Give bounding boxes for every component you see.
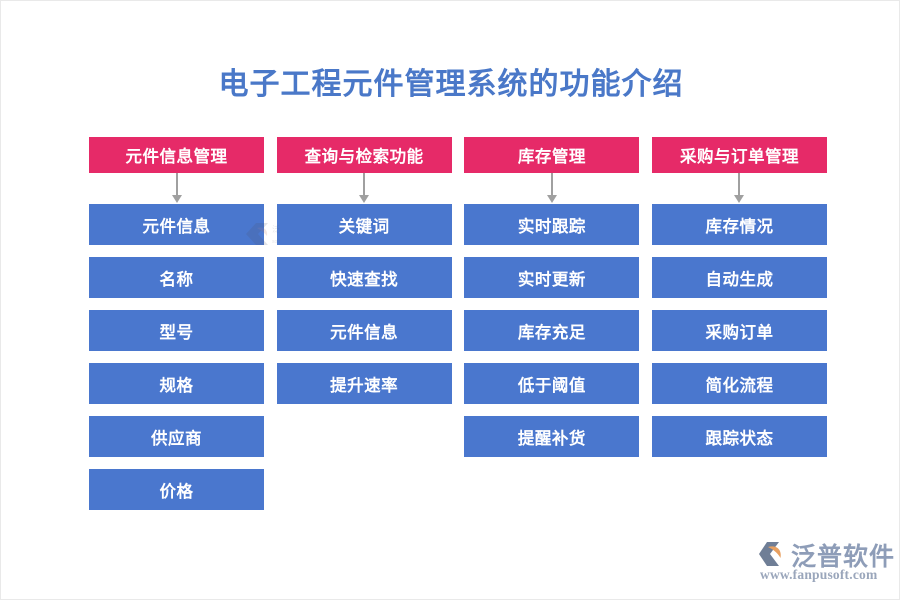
columns-container: 元件信息管理元件信息名称型号规格供应商价格查询与检索功能关键词快速查找元件信息提… (89, 137, 827, 510)
item-box[interactable]: 实时更新 (464, 257, 639, 298)
connector-line (551, 173, 553, 197)
column-header-4[interactable]: 采购与订单管理 (652, 137, 827, 173)
brand-logo: 泛普软件 www.fanpusoft.com (758, 537, 893, 585)
column-header-2[interactable]: 查询与检索功能 (277, 137, 452, 173)
connector-line (363, 173, 365, 197)
item-box[interactable]: 快速查找 (277, 257, 452, 298)
column-header-1[interactable]: 元件信息管理 (89, 137, 264, 173)
arrow-down-icon (652, 173, 827, 204)
connector-arrowhead (172, 195, 182, 203)
item-box[interactable]: 采购订单 (652, 310, 827, 351)
item-box[interactable]: 元件信息 (89, 204, 264, 245)
connector-arrowhead (734, 195, 744, 203)
column-2: 查询与检索功能关键词快速查找元件信息提升速率 (277, 137, 452, 510)
page-title: 电子工程元件管理系统的功能介绍 (1, 59, 900, 103)
item-box[interactable]: 跟踪状态 (652, 416, 827, 457)
item-box[interactable]: 自动生成 (652, 257, 827, 298)
item-box[interactable]: 实时跟踪 (464, 204, 639, 245)
brand-url: www.fanpusoft.com (760, 567, 877, 583)
column-header-3[interactable]: 库存管理 (464, 137, 639, 173)
column-4: 采购与订单管理库存情况自动生成采购订单简化流程跟踪状态 (652, 137, 827, 510)
item-box[interactable]: 规格 (89, 363, 264, 404)
arrow-down-icon (464, 173, 639, 204)
item-box[interactable]: 名称 (89, 257, 264, 298)
item-box[interactable]: 简化流程 (652, 363, 827, 404)
item-box[interactable]: 价格 (89, 469, 264, 510)
item-box[interactable]: 库存情况 (652, 204, 827, 245)
item-box[interactable]: 型号 (89, 310, 264, 351)
item-box[interactable]: 低于阈值 (464, 363, 639, 404)
fanpu-logo-icon (758, 539, 788, 569)
connector-arrowhead (359, 195, 369, 203)
item-box[interactable]: 供应商 (89, 416, 264, 457)
infographic-page: 电子工程元件管理系统的功能介绍 元件信息管理元件信息名称型号规格供应商价格查询与… (0, 0, 900, 600)
connector-line (738, 173, 740, 197)
column-3: 库存管理实时跟踪实时更新库存充足低于阈值提醒补货 (464, 137, 639, 510)
connector-arrowhead (547, 195, 557, 203)
item-box[interactable]: 提升速率 (277, 363, 452, 404)
arrow-down-icon (89, 173, 264, 204)
item-box[interactable]: 提醒补货 (464, 416, 639, 457)
item-box[interactable]: 元件信息 (277, 310, 452, 351)
connector-line (176, 173, 178, 197)
item-box[interactable]: 关键词 (277, 204, 452, 245)
item-box[interactable]: 库存充足 (464, 310, 639, 351)
arrow-down-icon (277, 173, 452, 204)
column-1: 元件信息管理元件信息名称型号规格供应商价格 (89, 137, 264, 510)
